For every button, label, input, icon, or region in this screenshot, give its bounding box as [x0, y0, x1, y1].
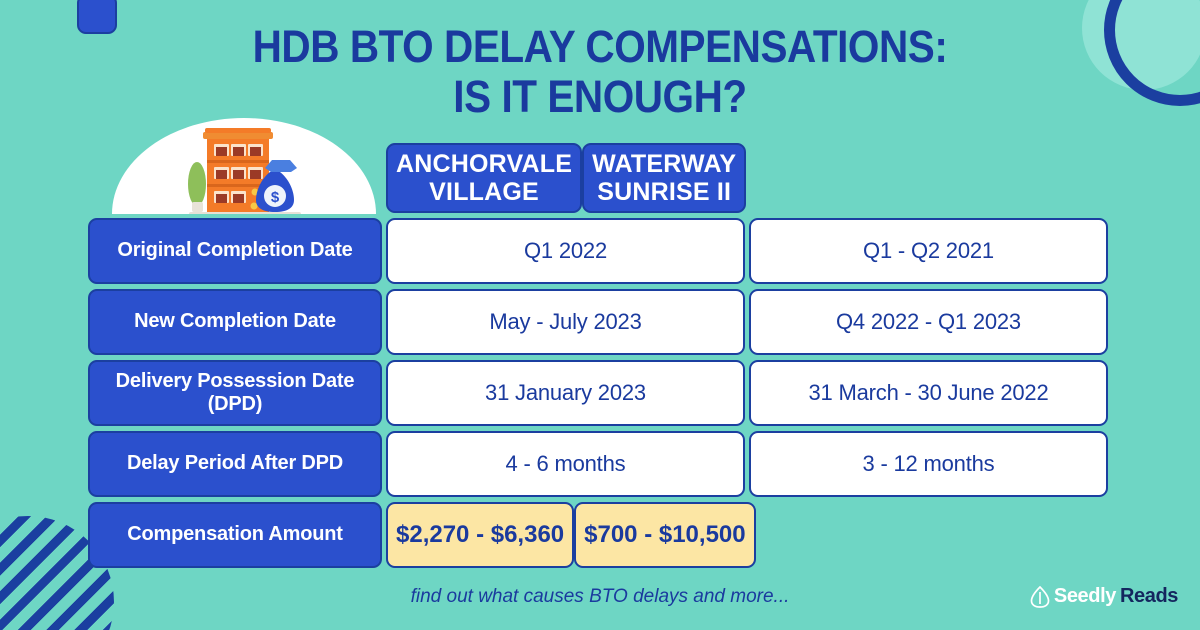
- logo-primary-text: Seedly: [1054, 585, 1116, 608]
- table-row: Delivery Possession Date (DPD) 31 Januar…: [88, 360, 1108, 426]
- cell-new-completion-date-anchorvale: May - July 2023: [386, 289, 745, 355]
- table-row: Original Completion Date Q1 2022 Q1 - Q2…: [88, 218, 1108, 284]
- comparison-table: ANCHORVALE VILLAGE WATERWAY SUNRISE II O…: [88, 143, 1108, 568]
- row-label-delay-period-after-dpd: Delay Period After DPD: [88, 431, 382, 497]
- seedly-leaf-icon: [1030, 586, 1050, 608]
- cell-delay-period-anchorvale: 4 - 6 months: [386, 431, 745, 497]
- row-label-delivery-possession-date: Delivery Possession Date (DPD): [88, 360, 382, 426]
- table-row: New Completion Date May - July 2023 Q4 2…: [88, 289, 1108, 355]
- logo-secondary-text: Reads: [1120, 585, 1178, 608]
- cell-compensation-amount-anchorvale: $2,270 - $6,360: [386, 502, 574, 568]
- row-label-compensation-amount: Compensation Amount: [88, 502, 382, 568]
- column-header-waterway-sunrise-ii: WATERWAY SUNRISE II: [582, 143, 746, 213]
- table-row: Compensation Amount $2,270 - $6,360 $700…: [88, 502, 1108, 568]
- cell-delay-period-waterway: 3 - 12 months: [749, 431, 1108, 497]
- footer-note: find out what causes BTO delays and more…: [0, 586, 1200, 608]
- table-corner-cell: [88, 143, 382, 213]
- cell-original-completion-date-anchorvale: Q1 2022: [386, 218, 745, 284]
- cell-delivery-possession-date-waterway: 31 March - 30 June 2022: [749, 360, 1108, 426]
- row-label-new-completion-date: New Completion Date: [88, 289, 382, 355]
- table-header-row: ANCHORVALE VILLAGE WATERWAY SUNRISE II: [88, 143, 1108, 213]
- table-row: Delay Period After DPD 4 - 6 months 3 - …: [88, 431, 1108, 497]
- cell-new-completion-date-waterway: Q4 2022 - Q1 2023: [749, 289, 1108, 355]
- cell-delivery-possession-date-anchorvale: 31 January 2023: [386, 360, 745, 426]
- page-title: HDB BTO DELAY COMPENSATIONS: IS IT ENOUG…: [60, 22, 1140, 123]
- row-label-original-completion-date: Original Completion Date: [88, 218, 382, 284]
- column-header-anchorvale-village: ANCHORVALE VILLAGE: [386, 143, 582, 213]
- seedly-reads-logo: Seedly Reads: [1030, 585, 1178, 608]
- cell-compensation-amount-waterway: $700 - $10,500: [574, 502, 755, 568]
- cell-original-completion-date-waterway: Q1 - Q2 2021: [749, 218, 1108, 284]
